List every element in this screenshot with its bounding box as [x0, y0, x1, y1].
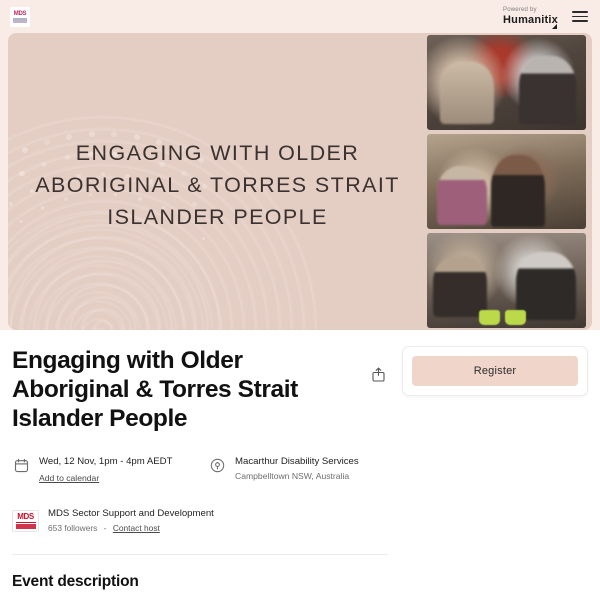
location-pin-glyph [210, 458, 225, 473]
register-card: Register [402, 346, 588, 396]
hero-artwork-panel: ENGAGING WITH OLDER ABORIGINAL & TORRES … [8, 33, 427, 330]
location-pin-icon [208, 456, 226, 474]
event-location-block: Macarthur Disability Services Campbellto… [208, 455, 359, 486]
powered-by-label: Powered by [503, 7, 537, 13]
event-description-heading: Event description [12, 573, 388, 591]
hero-photo-couple-cafe [427, 233, 586, 328]
calendar-icon [12, 456, 30, 474]
main-content: Engaging with Older Aboriginal & Torres … [0, 330, 600, 600]
organizer-logo-text: MDS [17, 513, 34, 521]
brand-logo-mark [13, 18, 27, 23]
contact-host-link[interactable]: Contact host [113, 523, 160, 533]
add-to-calendar-link[interactable]: Add to calendar [39, 472, 99, 485]
hamburger-bar [572, 16, 588, 18]
page-title: Engaging with Older Aboriginal & Torres … [12, 346, 360, 433]
organizer-row[interactable]: MDS MDS Sector Support and Development 6… [12, 507, 388, 535]
top-bar-right: Powered by Humanitix [503, 7, 588, 26]
organizer-follower-count: 653 followers [48, 523, 97, 533]
organizer-text-group: MDS Sector Support and Development 653 f… [48, 507, 214, 535]
event-date-text: Wed, 12 Nov, 1pm - 4pm AEDT [39, 455, 172, 468]
register-column: Register [402, 346, 588, 600]
top-bar: MDS Powered by Humanitix [0, 0, 600, 33]
hamburger-bar [572, 11, 588, 13]
event-venue-name: Macarthur Disability Services [235, 455, 359, 468]
brand-logo-text: MDS [14, 11, 26, 17]
hero-banner-wrapper: ENGAGING WITH OLDER ABORIGINAL & TORRES … [0, 33, 600, 330]
event-date-block: Wed, 12 Nov, 1pm - 4pm AEDT Add to calen… [12, 455, 208, 486]
organizer-meta: 653 followers - Contact host [48, 522, 214, 535]
hero-photo-elders-talking [427, 35, 586, 130]
hamburger-bar [572, 20, 588, 22]
powered-by-humanitix[interactable]: Powered by Humanitix [503, 7, 558, 26]
mds-brand-logo[interactable]: MDS [10, 7, 30, 27]
register-button[interactable]: Register [412, 356, 578, 386]
section-divider [12, 554, 388, 555]
hero-photo-women-outdoors [427, 134, 586, 229]
calendar-glyph [14, 458, 29, 473]
hamburger-menu-icon[interactable] [572, 11, 588, 22]
organizer-logo-subbar [16, 524, 36, 529]
organizer-logo: MDS [12, 510, 39, 532]
event-location-text-group: Macarthur Disability Services Campbellto… [235, 455, 359, 483]
cafe-cups-detail [475, 310, 545, 325]
event-title-row: Engaging with Older Aboriginal & Torres … [12, 346, 388, 433]
share-glyph [372, 367, 385, 382]
event-details-column: Engaging with Older Aboriginal & Torres … [12, 346, 388, 600]
organizer-name: MDS Sector Support and Development [48, 507, 214, 520]
event-venue-address: Campbelltown NSW, Australia [235, 470, 359, 483]
share-icon[interactable] [368, 364, 388, 384]
hero-photo-stack [427, 33, 592, 330]
hero-title: ENGAGING WITH OLDER ABORIGINAL & TORRES … [8, 137, 427, 233]
organizer-logo-rule [16, 522, 36, 523]
event-date-text-group: Wed, 12 Nov, 1pm - 4pm AEDT Add to calen… [39, 455, 172, 486]
event-meta-row: Wed, 12 Nov, 1pm - 4pm AEDT Add to calen… [12, 455, 388, 486]
organizer-meta-separator: - [104, 523, 107, 533]
humanitix-wordmark: Humanitix [503, 15, 558, 26]
hero-banner: ENGAGING WITH OLDER ABORIGINAL & TORRES … [8, 33, 592, 330]
